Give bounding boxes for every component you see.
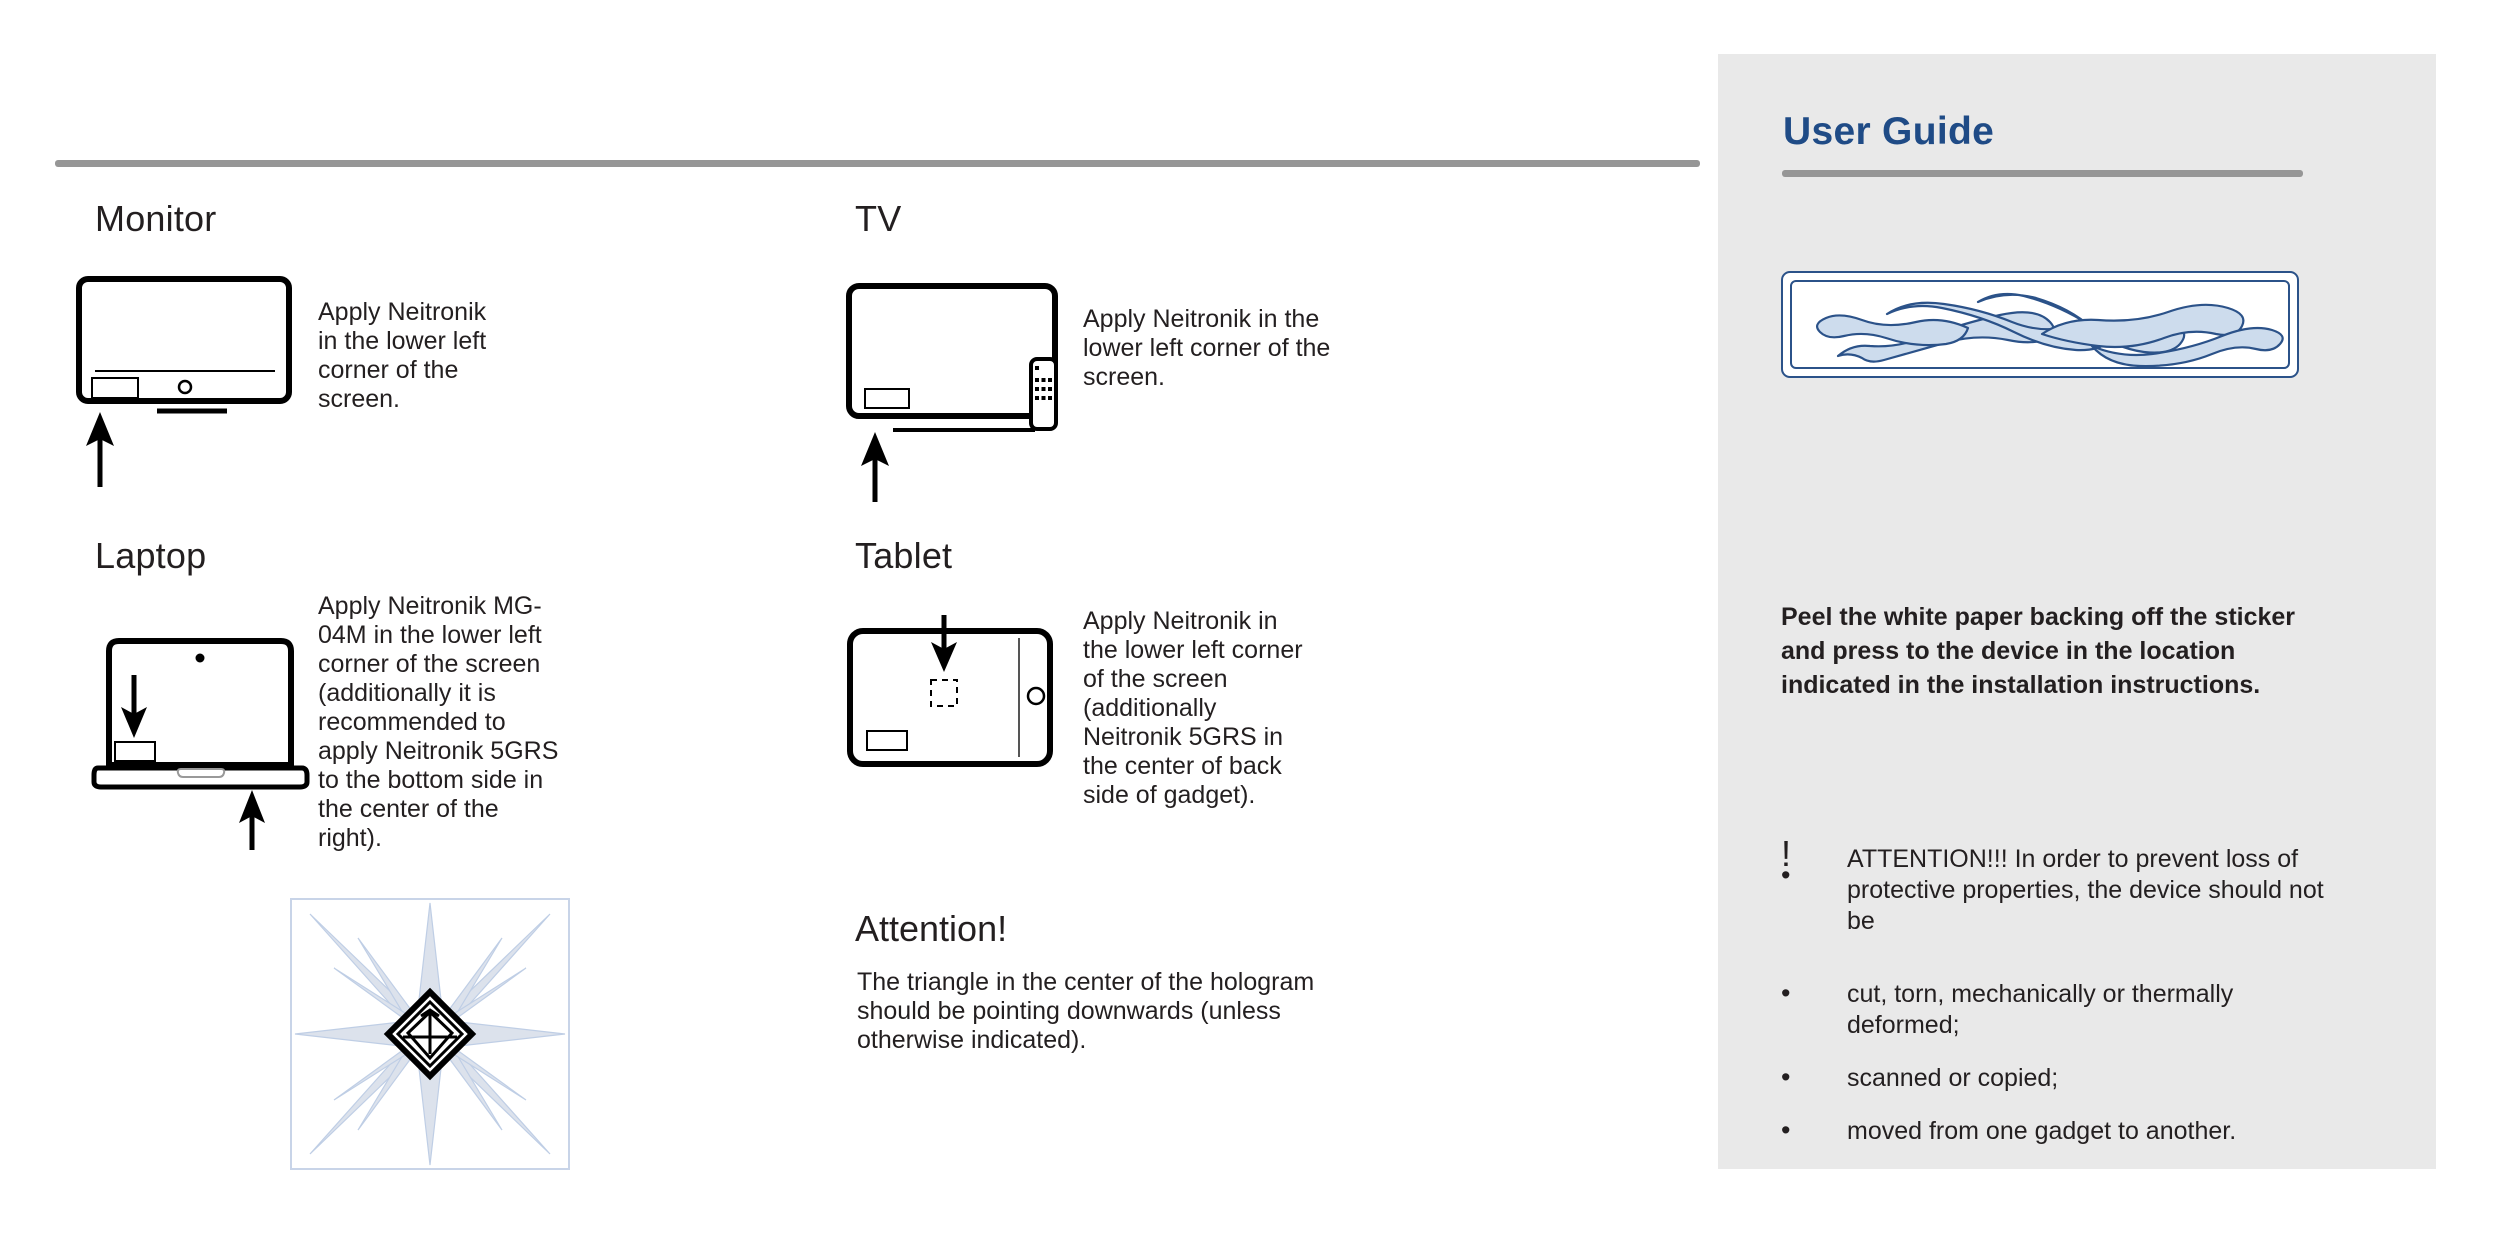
monitor-icon: [75, 275, 305, 415]
instruction-text-tablet: Apply Neitronik in the lower left corner…: [1083, 607, 1318, 810]
instruction-text-laptop: Apply Neitronik MG-04M in the lower left…: [318, 592, 563, 853]
instructions-panel: Monitor Apply Neitronik in the lower lef…: [0, 0, 1718, 1257]
celtic-knot-hologram-icon: [1790, 280, 2290, 369]
instruction-text-tv: Apply Neitronik in the lower left corner…: [1083, 305, 1351, 392]
instruction-text-monitor: Apply Neitronik in the lower left corner…: [318, 298, 498, 414]
sidebar-attention-list: ! • ATTENTION!!! In order to prevent los…: [1781, 844, 2341, 1169]
attention-text: The triangle in the center of the hologr…: [857, 968, 1377, 1055]
attention-heading: Attention!: [855, 908, 1007, 950]
top-divider: [55, 160, 1700, 167]
attention-list-item: • moved from one gadget to another.: [1781, 1116, 2341, 1147]
section-heading-laptop: Laptop: [95, 535, 206, 577]
sidebar-divider: [1782, 170, 2303, 177]
bullet-icon: •: [1781, 1062, 1815, 1093]
laptop-icon: [85, 625, 315, 850]
section-heading-tablet: Tablet: [855, 535, 952, 577]
tablet-icon: [845, 615, 1065, 775]
bullet-icon: •: [1781, 978, 1815, 1009]
attention-item-text: scanned or copied;: [1847, 1063, 2341, 1094]
monitor-arrow-up-icon: [80, 412, 130, 487]
attention-list-item: • scanned or copied;: [1781, 1063, 2341, 1094]
attention-item-text: moved from one gadget to another.: [1847, 1116, 2341, 1147]
sidebar-bold-instruction: Peel the white paper backing off the sti…: [1781, 600, 2316, 702]
attention-item-text: cut, torn, mechanically or thermally def…: [1847, 979, 2341, 1041]
attention-item-text: ATTENTION!!! In order to prevent loss of…: [1847, 844, 2341, 937]
sidebar-title: User Guide: [1783, 110, 1994, 154]
hologram-starburst-icon: [290, 898, 570, 1170]
attention-list-item: ! • ATTENTION!!! In order to prevent los…: [1781, 844, 2341, 937]
bullet-icon: •: [1781, 870, 1815, 880]
user-guide-sidebar: User Guide Peel the white paper backing …: [1718, 54, 2436, 1169]
tv-arrow-up-icon: [855, 432, 905, 502]
tv-icon: [845, 282, 1075, 457]
bullet-icon: •: [1781, 1115, 1815, 1146]
section-heading-monitor: Monitor: [95, 198, 216, 240]
attention-list-item: • cut, torn, mechanically or thermally d…: [1781, 979, 2341, 1041]
section-heading-tv: TV: [855, 198, 901, 240]
sticker-preview-frame: [1781, 271, 2299, 378]
